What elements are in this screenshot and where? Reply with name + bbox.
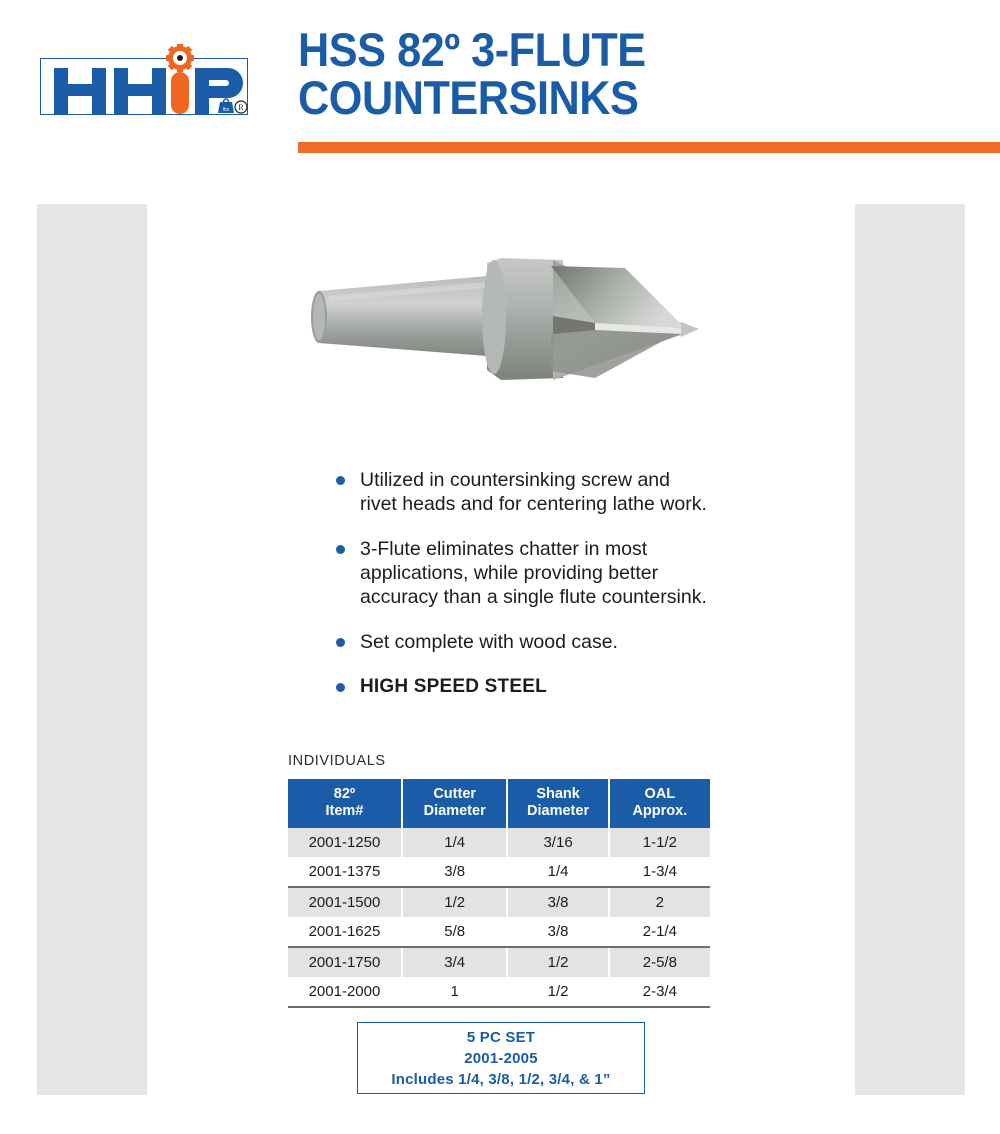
orange-accent-bar [298,142,1000,153]
header-line-2: Diameter [405,803,505,820]
list-item: Set complete with wood case. [332,630,712,654]
page-title: HSS 82º 3-FLUTE COUNTERSINKS [298,26,988,122]
cell-item: 2001-1500 [288,887,402,917]
header-line-2: Item# [290,803,399,820]
header-line-2: Diameter [510,803,605,820]
header-line-2: Approx. [612,803,708,820]
bullet-icon [336,545,345,554]
logo-i-stem [171,72,189,114]
cell-item: 2001-1625 [288,917,402,947]
cell-cutter: 1/2 [402,887,508,917]
cell-shank: 1/2 [507,977,608,1007]
registered-trademark-icon: R [235,101,247,113]
cell-oal: 1-1/2 [609,828,710,857]
column-header-cutter-diameter: Cutter Diameter [402,779,508,828]
page-header: lbs R HSS 82º 3-FLUTE COUNTERSINKS [0,0,1000,165]
bullet-icon [336,638,345,647]
cell-shank: 1/4 [507,857,608,887]
list-item: HIGH SPEED STEEL [332,675,712,699]
cell-cutter: 3/8 [402,857,508,887]
header-line-1: 82º [290,786,399,803]
cell-cutter: 5/8 [402,917,508,947]
product-image-countersink [295,238,705,418]
feature-text: HIGH SPEED STEEL [360,676,547,697]
cell-cutter: 1/4 [402,828,508,857]
table-row: 2001-2000 1 1/2 2-3/4 [288,977,710,1007]
svg-text:R: R [238,103,244,112]
set-callout-box: 5 PC SET 2001-2005 Includes 1/4, 3/8, 1/… [357,1022,645,1094]
cell-oal: 2-1/4 [609,917,710,947]
list-item: 3-Flute eliminates chatter in most appli… [332,537,712,609]
cell-oal: 2-3/4 [609,977,710,1007]
table-caption: INDIVIDUALS [288,753,386,769]
feature-text: Set complete with wood case. [360,631,618,653]
table-row: 2001-1375 3/8 1/4 1-3/4 [288,857,710,887]
set-title: 5 PC SET [467,1027,535,1048]
table-header-row: 82º Item# Cutter Diameter Shank Diameter… [288,779,710,828]
right-gray-panel [855,204,965,1095]
cell-oal: 1-3/4 [609,857,710,887]
cell-cutter: 1 [402,977,508,1007]
cell-item: 2001-2000 [288,977,402,1007]
cell-cutter: 3/4 [402,947,508,977]
title-line-1: HSS 82º 3-FLUTE [298,26,933,74]
header-line-1: Shank [510,786,605,803]
cell-shank: 1/2 [507,947,608,977]
feature-list: Utilized in countersinking screw and riv… [332,468,712,699]
header-line-1: Cutter [405,786,505,803]
cell-shank: 3/8 [507,887,608,917]
table-row: 2001-1500 1/2 3/8 2 [288,887,710,917]
gear-icon [166,44,194,72]
column-header-oal: OAL Approx. [609,779,710,828]
feature-text: Utilized in countersinking screw and riv… [360,469,707,515]
cell-item: 2001-1750 [288,947,402,977]
column-header-shank-diameter: Shank Diameter [507,779,608,828]
hhip-logo: lbs R [40,44,250,116]
cell-shank: 3/8 [507,917,608,947]
specification-table: 82º Item# Cutter Diameter Shank Diameter… [288,779,710,1008]
cell-oal: 2 [609,887,710,917]
cell-item: 2001-1375 [288,857,402,887]
table-row: 2001-1625 5/8 3/8 2-1/4 [288,917,710,947]
hhip-logo-mark: lbs R [40,44,250,116]
cell-oal: 2-5/8 [609,947,710,977]
set-item-number: 2001-2005 [464,1048,538,1069]
weight-icon: lbs [218,99,234,113]
feature-text: 3-Flute eliminates chatter in most appli… [360,538,707,608]
table-row: 2001-1750 3/4 1/2 2-5/8 [288,947,710,977]
cell-shank: 3/16 [507,828,608,857]
column-header-item: 82º Item# [288,779,402,828]
svg-text:lbs: lbs [223,107,230,113]
bullet-icon [336,683,345,692]
cell-item: 2001-1250 [288,828,402,857]
set-includes: Includes 1/4, 3/8, 1/2, 3/4, & 1” [391,1069,610,1090]
list-item: Utilized in countersinking screw and riv… [332,468,712,516]
header-line-1: OAL [612,786,708,803]
title-line-2: COUNTERSINKS [298,74,933,122]
bullet-icon [336,476,345,485]
table-row: 2001-1250 1/4 3/16 1-1/2 [288,828,710,857]
left-gray-panel [37,204,147,1095]
